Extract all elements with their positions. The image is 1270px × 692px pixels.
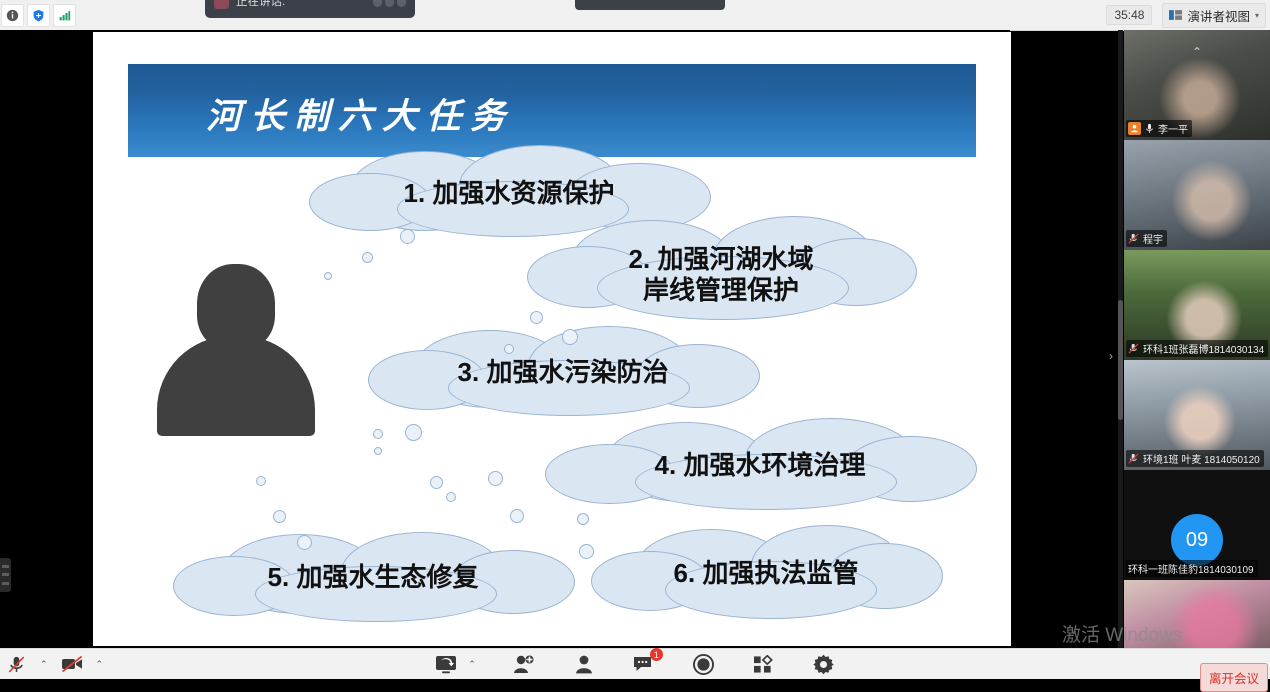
cloud-label-1: 1. 加强水资源保护 — [404, 178, 615, 209]
mic-muted-icon — [1128, 233, 1139, 244]
meeting-actions: ⌃ 1 — [0, 649, 1270, 679]
participant-name-row: 李一平 — [1126, 120, 1192, 137]
slide-title: 河长制六大任务 — [206, 88, 514, 139]
bottom-toolbar: ⌃ ⌃ ⌃ 1 — [0, 648, 1270, 679]
mic-muted-icon — [1128, 453, 1139, 464]
bubble-decoration — [562, 329, 578, 345]
participants-filmstrip: ⌃ 李一平 程宇 — [1124, 30, 1270, 648]
bubble-decoration — [400, 229, 415, 244]
bubble-decoration — [297, 535, 312, 550]
network-signal-icon[interactable] — [53, 4, 76, 27]
bubble-decoration — [504, 344, 514, 354]
bubble-decoration — [510, 509, 524, 523]
bubble-decoration — [256, 476, 266, 486]
cloud-label-4: 4. 加强水环境治理 — [655, 450, 866, 481]
bubble-decoration — [579, 544, 594, 559]
cloud-item-2: 2. 加强河湖水域 岸线管理保护 — [527, 220, 915, 330]
bubble-decoration — [373, 429, 383, 439]
participant-name: 环境1班 叶麦 1814050120 — [1143, 451, 1260, 466]
chevron-down-icon[interactable]: ▾ — [1255, 11, 1259, 20]
shield-icon[interactable] — [27, 4, 50, 27]
secondary-toast — [575, 0, 725, 10]
cloud-item-6: 6. 加强执法监管 — [591, 529, 941, 617]
bubble-decoration — [405, 424, 422, 441]
bubble-decoration — [374, 447, 382, 455]
mic-muted-icon — [1128, 343, 1139, 354]
avatar: 09 — [1171, 514, 1223, 566]
watermark-line-1: 激活 Windows — [1062, 620, 1207, 647]
cloud-label-5: 5. 加强水生态修复 — [268, 562, 479, 593]
cloud-item-4: 4. 加强水环境治理 — [545, 422, 975, 508]
cloud-label-6: 6. 加强执法监管 — [674, 558, 859, 589]
apps-icon[interactable] — [752, 653, 776, 675]
cloud-item-3: 3. 加强水污染防治 — [368, 330, 758, 414]
participant-tile[interactable]: 环科1班张磊博1814030134 — [1124, 250, 1270, 360]
participant-name-row: 程宇 — [1126, 230, 1167, 247]
panel-scrollbar-thumb[interactable] — [1118, 300, 1123, 420]
bubble-decoration — [430, 476, 443, 489]
bubble-decoration — [362, 252, 373, 263]
collapse-panel-arrow-icon[interactable]: › — [1104, 345, 1118, 367]
speaking-toast-text: 正在讲话: — [236, 0, 285, 9]
scroll-up-icon[interactable]: ⌃ — [1124, 44, 1270, 60]
participant-tile[interactable]: 环境1班 叶麦 1814050120 — [1124, 360, 1270, 470]
toast-avatar — [214, 0, 229, 9]
mic-on-icon — [1145, 123, 1154, 134]
cloud-item-5: 5. 加强水生态修复 — [173, 534, 573, 620]
participant-tile[interactable]: 程宇 — [1124, 140, 1270, 250]
chat-unread-badge: 1 — [650, 648, 663, 661]
meeting-window: 35:48 演讲者视图 ▾ 正在讲话: 河长制六大任务 — [0, 0, 1270, 678]
mouse-cursor — [1024, 186, 1036, 204]
invite-participant-icon[interactable] — [512, 653, 536, 675]
participant-name-row: 环科1班张磊博1814030134 — [1126, 340, 1268, 357]
cloud-label-3: 3. 加强水污染防治 — [458, 357, 669, 388]
participant-name-row: 环境1班 叶麦 1814050120 — [1126, 450, 1264, 467]
bubble-decoration — [530, 311, 543, 324]
meeting-timer: 35:48 — [1106, 5, 1152, 25]
top-bar-left-icons — [0, 0, 76, 30]
host-avatar-icon — [1128, 122, 1141, 135]
share-screen-icon[interactable] — [434, 653, 458, 675]
info-icon[interactable] — [1, 4, 24, 27]
bubble-decoration — [324, 272, 332, 280]
toast-indicator-dots — [373, 0, 406, 7]
presenter-view-icon — [1169, 9, 1182, 21]
participant-tile[interactable]: 09 环科一班陈佳豹1814030109 — [1124, 470, 1270, 580]
participants-icon[interactable] — [572, 653, 596, 675]
view-mode-selector[interactable]: 演讲者视图 ▾ — [1162, 3, 1266, 28]
bubble-decoration — [446, 492, 456, 502]
presentation-slide: 河长制六大任务 1. 加强水资源保护 2. 加强河湖 — [93, 32, 1011, 646]
settings-icon[interactable] — [812, 653, 836, 675]
bubble-decoration — [488, 471, 503, 486]
record-icon[interactable] — [692, 653, 716, 675]
cloud-label-2-line1: 2. 加强河湖水域 — [629, 244, 814, 275]
shared-screen-stage: 河长制六大任务 1. 加强水资源保护 2. 加强河湖 — [0, 30, 1010, 648]
share-screen-caret-icon[interactable]: ⌃ — [468, 659, 476, 670]
speaking-toast: 正在讲话: — [205, 0, 415, 18]
slide-title-banner: 河长制六大任务 — [128, 64, 976, 157]
top-bar-right: 35:48 演讲者视图 ▾ — [1106, 0, 1266, 30]
view-mode-label: 演讲者视图 — [1187, 6, 1250, 25]
bubble-decoration — [273, 510, 286, 523]
person-silhouette — [157, 264, 315, 436]
participant-name: 环科一班陈佳豹1814030109 — [1128, 561, 1254, 576]
participant-name: 李一平 — [1158, 121, 1188, 136]
participant-name: 程宇 — [1143, 231, 1163, 246]
participant-name: 环科1班张磊博1814030134 — [1143, 341, 1264, 356]
chat-icon[interactable]: 1 — [632, 653, 656, 675]
cloud-label-2-line2: 岸线管理保护 — [643, 275, 799, 306]
left-edge-taskbar-stub[interactable] — [0, 558, 11, 592]
participant-name-row: 环科一班陈佳豹1814030109 — [1126, 560, 1258, 577]
bubble-decoration — [577, 513, 589, 525]
